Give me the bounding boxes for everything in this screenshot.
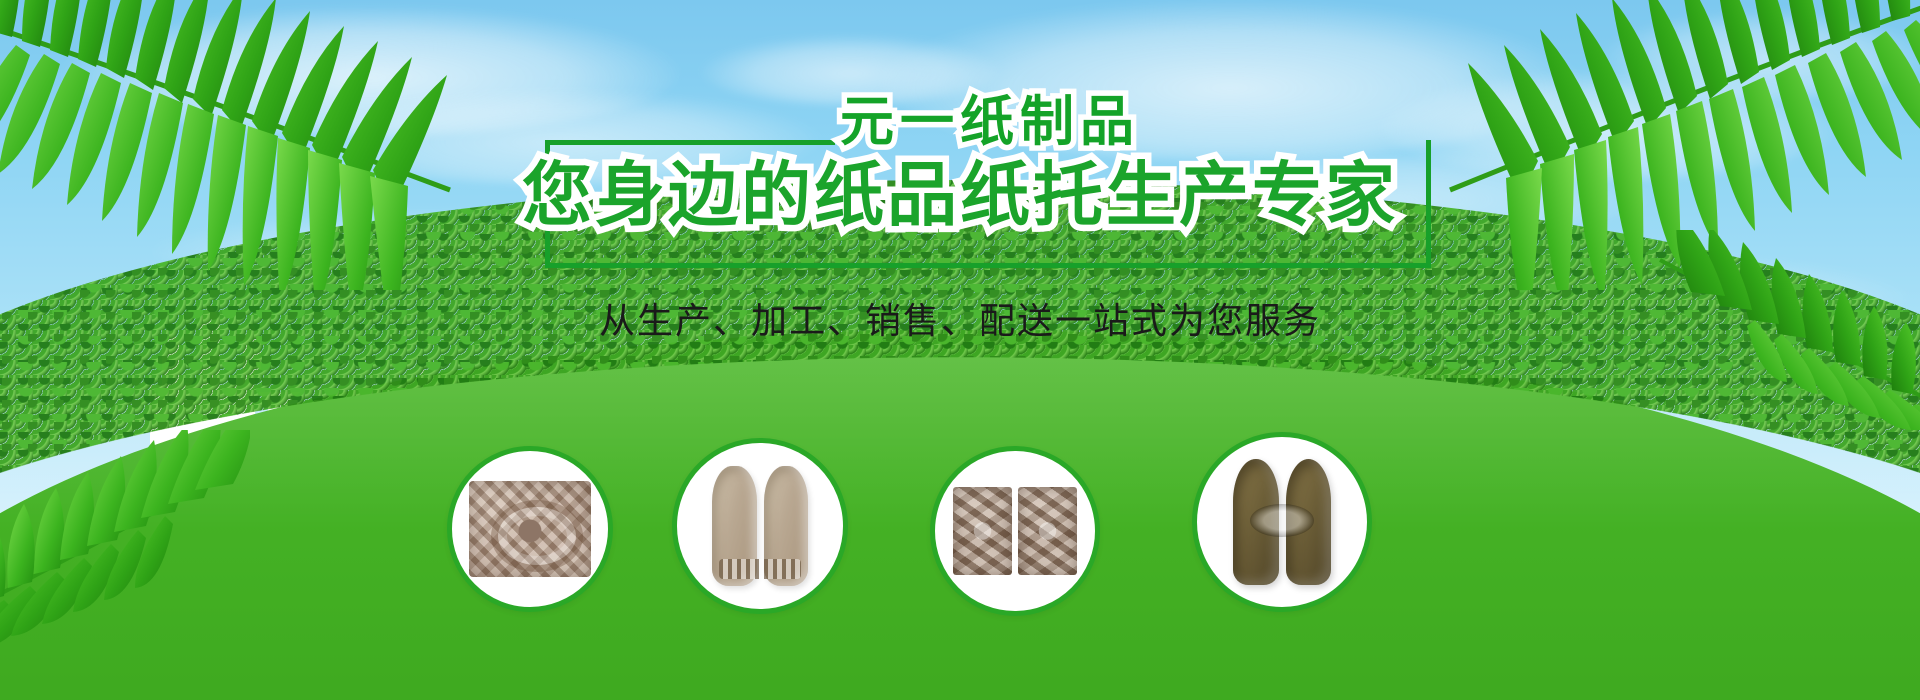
brand-title: 元一纸制品	[840, 95, 1140, 149]
product-circle-2[interactable]	[672, 438, 848, 614]
molded-pulp-double-tray-image	[953, 487, 1078, 575]
subtitle-text: 从生产、加工、销售、配送一站式为您服务	[0, 292, 1920, 344]
product-circle-4[interactable]	[1192, 432, 1372, 612]
promo-banner: 元一纸制品 您身边的纸品纸托生产专家 从生产、加工、销售、配送一站式为您服务	[0, 0, 1920, 700]
paper-pulp-shoe-insole-pair-image	[695, 466, 824, 586]
product-circle-3[interactable]	[930, 446, 1100, 616]
headline-block: 元一纸制品 您身边的纸品纸托生产专家	[0, 95, 1920, 233]
molded-pulp-square-tray-image	[469, 481, 591, 578]
headline-text: 您身边的纸品纸托生产专家	[522, 159, 1398, 233]
product-circle-1[interactable]	[447, 446, 613, 612]
headline-frame-bottom	[545, 263, 1431, 268]
cloud-icon	[1600, 10, 1920, 100]
paper-pulp-shoe-tree-pair-image	[1216, 459, 1349, 585]
